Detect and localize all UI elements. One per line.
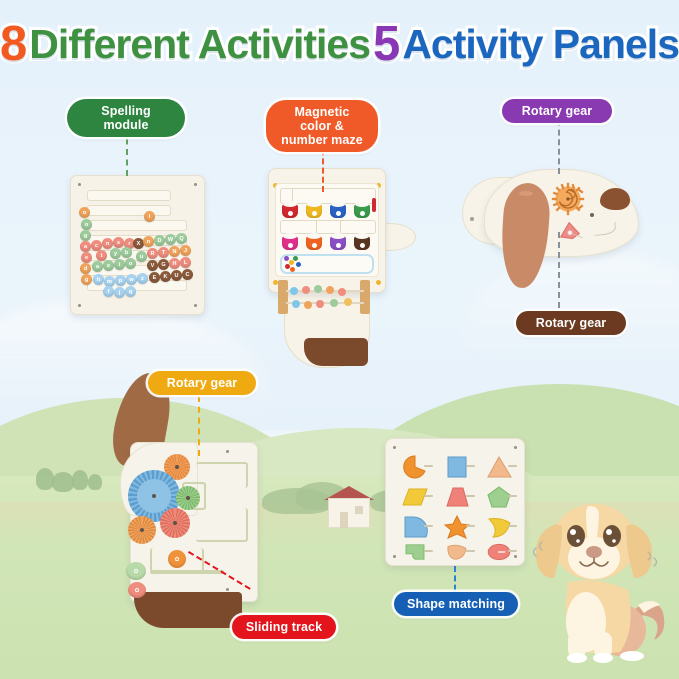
dog-eye-dot: [590, 213, 594, 217]
connector-rotary-top: [558, 120, 560, 174]
letter-bead[interactable]: s: [113, 237, 124, 248]
badge-label: Spelling module: [101, 104, 150, 132]
letter-bead[interactable]: C: [182, 269, 193, 280]
badge-rotary-gear-top[interactable]: Rotary gear: [502, 99, 612, 123]
letter-bead[interactable]: e: [81, 252, 92, 263]
letter-bead[interactable]: a: [92, 261, 103, 272]
spelling-slot: [87, 205, 171, 216]
letter-bead[interactable]: E: [149, 272, 160, 283]
shape-oval[interactable]: [486, 543, 512, 561]
badge-label-line1: Magnetic color &: [295, 105, 350, 133]
letter-bead[interactable]: l: [144, 211, 155, 222]
maze-cup-blue[interactable]: [330, 204, 346, 218]
badge-label: Rotary gear: [167, 376, 238, 390]
shape-quarter-circle[interactable]: [402, 515, 428, 539]
dog-nose-shape: [600, 188, 630, 210]
letter-bead[interactable]: g: [81, 274, 92, 285]
letter-bead[interactable]: d: [80, 263, 91, 274]
letter-bead[interactable]: N: [169, 246, 180, 257]
slider-knob-green[interactable]: ✿: [126, 562, 146, 580]
maze-loose-bead[interactable]: [290, 267, 295, 272]
panel-magnetic-maze[interactable]: [268, 168, 408, 373]
badge-label: Sliding track: [246, 620, 322, 634]
spelling-slot: [87, 220, 187, 231]
letter-bead[interactable]: a: [80, 241, 91, 252]
maze-cup-pink[interactable]: [282, 236, 298, 250]
abacus-bead[interactable]: [326, 286, 334, 294]
headline-text-different-activities: Different Activities: [29, 21, 370, 68]
abacus-bead[interactable]: [290, 287, 298, 295]
badge-shape-matching[interactable]: Shape matching: [394, 592, 518, 616]
sliding-track-path: [196, 508, 248, 542]
letter-bead[interactable]: K: [160, 271, 171, 282]
tree-icon: [72, 470, 88, 490]
maze-cup-purple[interactable]: [330, 236, 346, 250]
letter-bead[interactable]: u: [136, 251, 147, 262]
abacus-bead[interactable]: [344, 298, 352, 306]
spelling-slot: [87, 190, 171, 201]
letter-bead[interactable]: i: [114, 259, 125, 270]
letter-bead[interactable]: G: [158, 259, 169, 270]
maze-cup-yellow[interactable]: [306, 204, 322, 218]
shape-half-heart[interactable]: [444, 543, 470, 561]
badge-rotary-gear-left[interactable]: Rotary gear: [148, 371, 256, 395]
maze-cup-red[interactable]: [282, 204, 298, 218]
shape-parallelogram[interactable]: [402, 485, 428, 509]
maze-loose-bead[interactable]: [293, 256, 298, 261]
letter-bead[interactable]: V: [147, 260, 158, 271]
mascot-dog: [516, 490, 676, 665]
letter-bead[interactable]: W: [165, 234, 176, 245]
dog-ear-shape: [498, 182, 551, 290]
letter-bead[interactable]: o: [125, 258, 136, 269]
maze-foot-wood: [304, 338, 368, 366]
badge-rotary-gear-nose[interactable]: Rotary gear: [516, 311, 626, 335]
maze-inner-area: [275, 183, 379, 277]
slider-knob-coral[interactable]: ✿: [128, 582, 146, 598]
house-body-icon: [328, 498, 370, 528]
letter-bead[interactable]: n: [143, 236, 154, 247]
letter-bead[interactable]: t: [96, 250, 107, 261]
maze-body-board: [268, 168, 386, 293]
maze-track: [280, 220, 376, 234]
panel-spelling-module[interactable]: l o o g a e d g c n s r t a e i o u y b …: [70, 175, 205, 315]
shape-pentagon[interactable]: [486, 485, 512, 509]
letter-bead[interactable]: o: [81, 219, 92, 230]
panel-dog-head-rotary[interactable]: [462, 165, 642, 285]
page-title: 8 Different Activities 5 Activity Panels: [0, 14, 679, 74]
shape-star[interactable]: [444, 515, 470, 539]
shape-trapezoid[interactable]: [444, 485, 470, 509]
letter-bead[interactable]: y: [110, 248, 121, 259]
gear-panel-foot-wood: [134, 592, 242, 628]
maze-abacus[interactable]: [278, 280, 370, 316]
badge-sliding-track[interactable]: Sliding track: [232, 615, 336, 639]
letter-bead[interactable]: z: [137, 273, 148, 284]
abacus-bead[interactable]: [302, 286, 310, 294]
badge-magnetic-maze[interactable]: Magnetic color & number maze: [266, 100, 378, 152]
letter-bead[interactable]: L: [180, 257, 191, 268]
maze-loose-bead[interactable]: [284, 256, 289, 261]
gear-coral[interactable]: [160, 508, 190, 538]
shape-crescent[interactable]: [486, 515, 512, 539]
letter-bead[interactable]: H: [169, 258, 180, 269]
headline-number-5: 5: [373, 16, 399, 72]
maze-cup-orange[interactable]: [306, 236, 322, 250]
abacus-bead[interactable]: [338, 288, 346, 296]
badge-label-line2: number maze: [281, 133, 363, 147]
letter-bead[interactable]: b: [121, 247, 132, 258]
letter-bead[interactable]: J: [180, 245, 191, 256]
abacus-bead[interactable]: [292, 300, 300, 308]
gear-green[interactable]: [176, 486, 200, 510]
letter-bead[interactable]: g: [80, 230, 91, 241]
shape-rounded-square[interactable]: [402, 543, 428, 561]
abacus-bead[interactable]: [330, 299, 338, 307]
letter-bead[interactable]: f: [103, 286, 114, 297]
letter-bead[interactable]: h: [93, 274, 104, 285]
headline-text-activity-panels: Activity Panels: [402, 21, 679, 68]
headline-number-8: 8: [0, 16, 26, 72]
letter-bead[interactable]: T: [158, 247, 169, 258]
panel-shape-matching[interactable]: [385, 438, 525, 566]
sliding-track-path: [150, 570, 224, 574]
letter-bead[interactable]: Q: [176, 233, 187, 244]
maze-magnetic-wand[interactable]: [372, 198, 376, 212]
pink-triangle-knob[interactable]: [557, 220, 583, 242]
shape-square[interactable]: [444, 455, 470, 479]
shape-circle-slice[interactable]: [402, 455, 428, 479]
maze-loose-bead[interactable]: [289, 260, 294, 265]
dog-ear-highlight: [519, 191, 533, 196]
badge-label: Shape matching: [407, 597, 505, 611]
shape-triangle[interactable]: [486, 455, 512, 479]
infographic-stage: 8 Different Activities 5 Activity Panels…: [0, 0, 679, 679]
panel-screw: [470, 217, 474, 221]
letter-bead[interactable]: U: [171, 270, 182, 281]
tree-icon: [52, 472, 74, 492]
letter-bead[interactable]: o: [79, 207, 90, 218]
badge-spelling-module[interactable]: Spelling module: [67, 99, 185, 137]
connector-rotary-nose: [558, 232, 560, 308]
letter-bead[interactable]: n: [102, 238, 113, 249]
gear-orange-lower[interactable]: [128, 516, 156, 544]
slider-knob-orange[interactable]: ✿: [168, 550, 186, 568]
tree-icon: [88, 474, 102, 490]
letter-bead[interactable]: q: [125, 286, 136, 297]
badge-label: Rotary gear: [536, 316, 607, 330]
letter-bead[interactable]: p: [115, 275, 126, 286]
house-door-icon: [340, 512, 348, 528]
spiral-rotary-gear[interactable]: [550, 181, 586, 217]
connector-rotary-left: [198, 396, 200, 456]
letter-bead[interactable]: j: [114, 287, 125, 298]
maze-cup-brown[interactable]: [354, 236, 370, 250]
maze-loose-bead[interactable]: [296, 262, 301, 267]
abacus-bead[interactable]: [316, 300, 324, 308]
letter-bead[interactable]: R: [147, 248, 158, 259]
maze-cup-green[interactable]: [354, 204, 370, 218]
letter-bead[interactable]: e: [103, 260, 114, 271]
house-window-icon: [355, 506, 363, 514]
letter-bead[interactable]: w: [126, 274, 137, 285]
abacus-bead[interactable]: [314, 285, 322, 293]
badge-label: Rotary gear: [522, 104, 593, 118]
letter-bead[interactable]: D: [154, 235, 165, 246]
abacus-bead[interactable]: [304, 301, 312, 309]
panel-rotary-gear-sliding-track[interactable]: ✿ ✿ ✿: [120, 420, 280, 640]
